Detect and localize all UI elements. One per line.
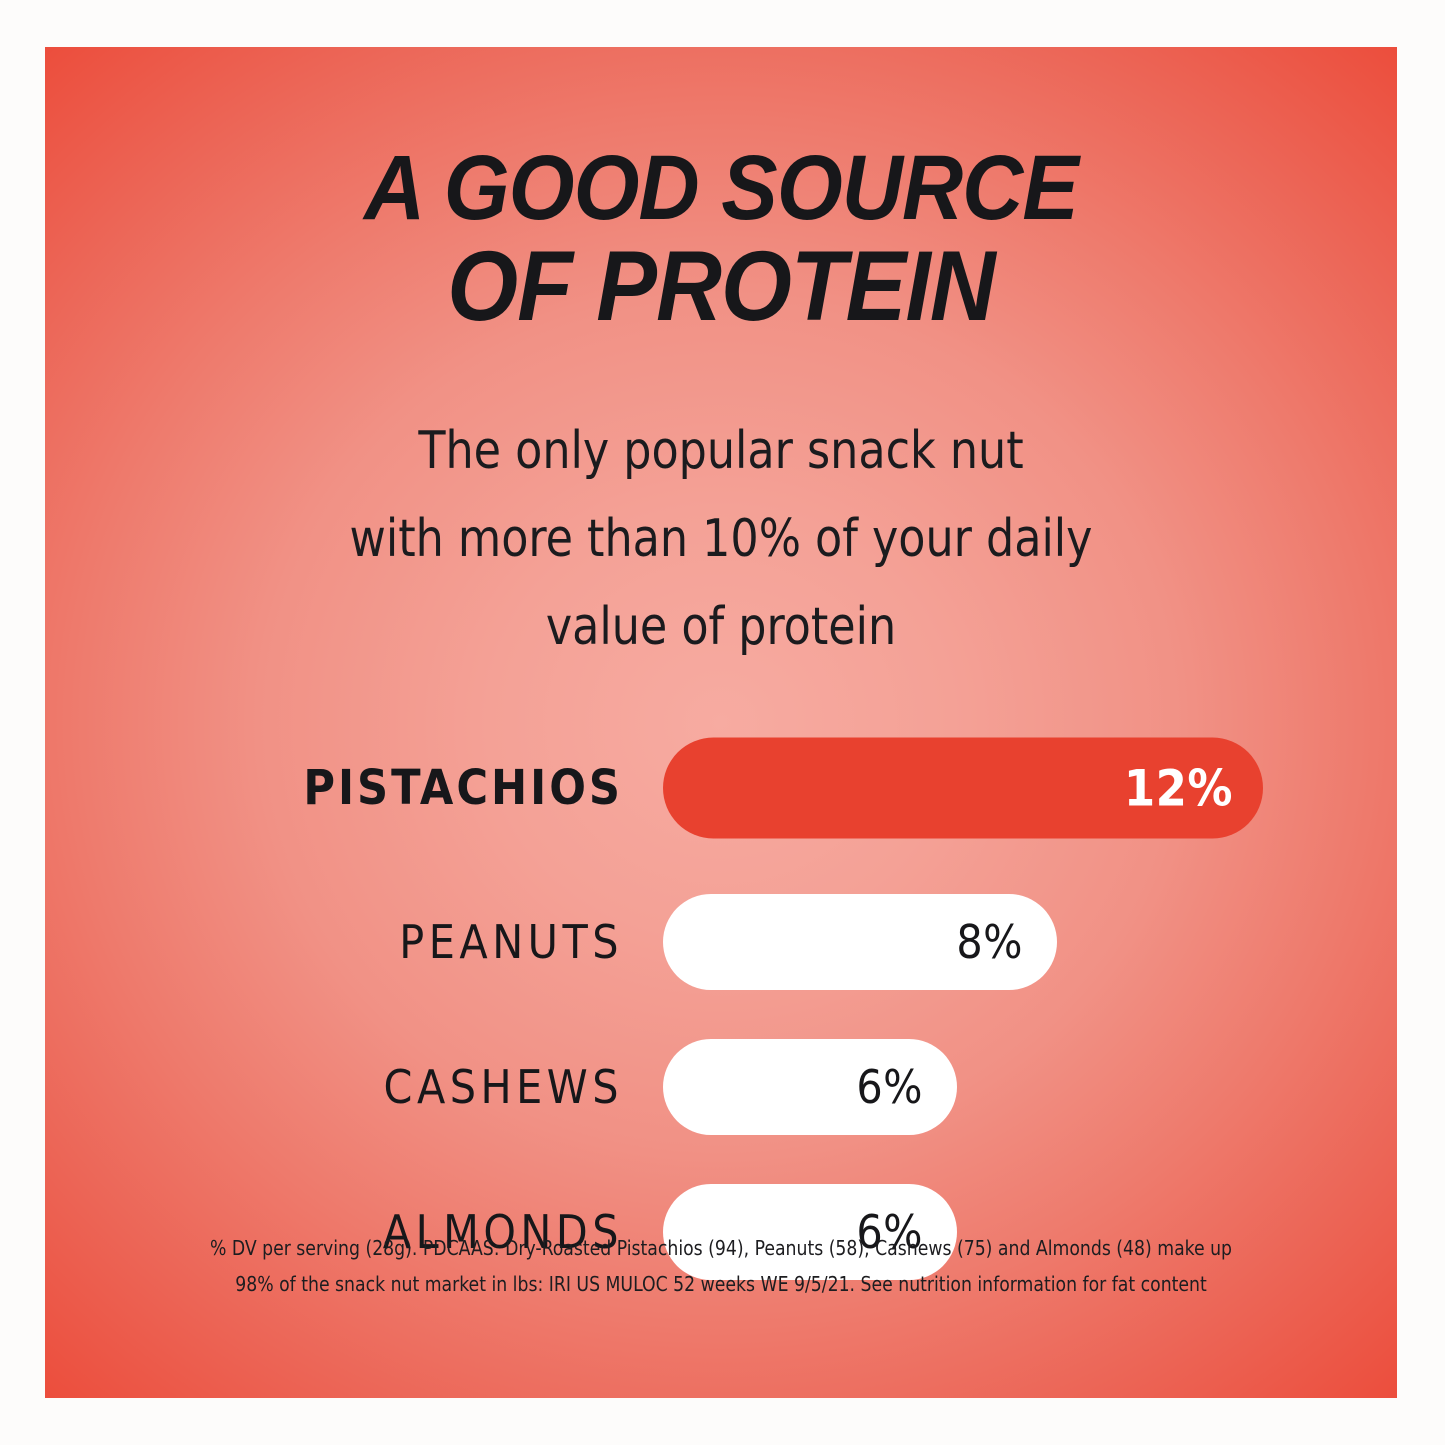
subtitle-line-3: value of protein [79, 583, 1363, 671]
bar-fill-peanuts: 8% [663, 894, 1057, 990]
bar-value-cashews: 6% [856, 1060, 957, 1114]
footnote-line-2: 98% of the snack nut market in lbs: IRI … [72, 1266, 1370, 1302]
headline-line-2: OF PROTEIN [99, 234, 1343, 338]
subtitle: The only popular snack nut with more tha… [79, 407, 1363, 671]
bar-label-peanuts: PEANUTS [399, 915, 623, 969]
subtitle-line-1: The only popular snack nut [79, 407, 1363, 495]
bar-row: CASHEWS 6% [45, 1014, 1445, 1159]
red-gradient-panel: A GOOD SOURCE OF PROTEIN The only popula… [45, 47, 1397, 1398]
headline-line-1: A GOOD SOURCE [99, 142, 1343, 234]
footnote-line-1: % DV per serving (28g). PDCAAS: Dry-Roas… [72, 1230, 1370, 1266]
bar-row: PEANUTS 8% [45, 869, 1445, 1014]
bar-label-pistachios: PISTACHIOS [303, 760, 623, 816]
bar-fill-cashews: 6% [663, 1039, 957, 1135]
infographic-canvas: A GOOD SOURCE OF PROTEIN The only popula… [0, 0, 1445, 1445]
bar-value-pistachios: 12% [1124, 759, 1263, 817]
bar-label-cashews: CASHEWS [384, 1060, 623, 1114]
page-title: A GOOD SOURCE OF PROTEIN [99, 142, 1343, 338]
bar-track-cashews: 6% [663, 1039, 957, 1135]
bar-value-peanuts: 8% [956, 915, 1057, 969]
protein-bar-chart: PISTACHIOS 12% PEANUTS 8% CASHEWS [45, 707, 1445, 1304]
subtitle-line-2: with more than 10% of your daily [79, 495, 1363, 583]
bar-track-pistachios: 12% [663, 738, 1263, 839]
footnote: % DV per serving (28g). PDCAAS: Dry-Roas… [72, 1230, 1370, 1302]
bar-fill-pistachios: 12% [663, 738, 1263, 839]
bar-row: PISTACHIOS 12% [45, 707, 1445, 869]
bar-track-peanuts: 8% [663, 894, 1057, 990]
